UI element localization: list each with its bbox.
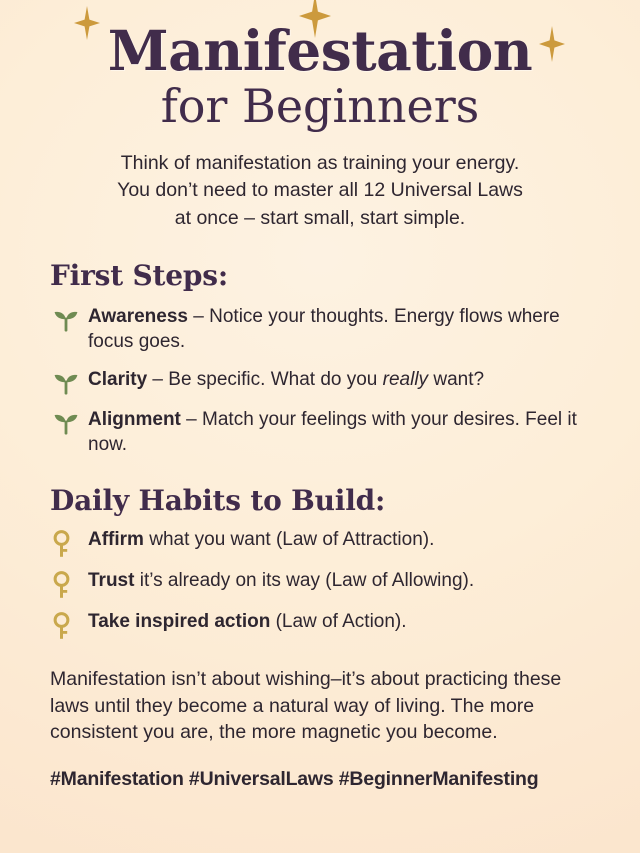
list-item-term: Affirm [88,529,144,550]
list-item: Take inspired action (Law of Action). [52,609,606,640]
list-item-term: Take inspired action [88,611,270,632]
key-icon [52,530,82,558]
daily-habits-list: Affirm what you want (Law of Attraction)… [0,527,640,640]
hashtag-line: #Manifestation #UniversalLaws #BeginnerM… [50,768,620,791]
list-item-emphasis: really [383,369,428,390]
list-item-term: Alignment [88,409,181,430]
seedling-icon [52,306,82,332]
intro-line-1: Think of manifestation as training your … [36,150,604,178]
list-item-dash: – [147,369,168,390]
list-item-text: Awareness – Notice your thoughts. Energy… [82,304,606,355]
section-heading-first-steps: First Steps: [50,259,640,292]
list-item-text: Clarity – Be specific. What do you reall… [82,367,606,392]
list-item-detail-pre: Be specific. What do you [168,369,382,390]
title-sub-text: for Beginners [0,81,640,132]
list-item-detail: what you want (Law of Attraction). [144,529,434,550]
list-item-detail: (Law of Action). [270,611,406,632]
key-icon [52,571,82,599]
list-item-term: Awareness [88,306,188,327]
intro-paragraph: Think of manifestation as training your … [36,150,604,233]
list-item-dash: – [181,409,202,430]
first-steps-list: Awareness – Notice your thoughts. Energy… [0,304,640,458]
page-title: Manifestation for Beginners [0,0,640,132]
list-item-dash: – [188,306,209,327]
closing-paragraph: Manifestation isn’t about wishing–it’s a… [50,666,596,747]
key-icon [52,612,82,640]
poster-canvas: Manifestation for Beginners Think of man… [0,0,640,853]
intro-line-2: You don’t need to master all 12 Universa… [36,177,604,205]
list-item: Alignment – Match your feelings with you… [52,407,606,458]
list-item: Awareness – Notice your thoughts. Energy… [52,304,606,355]
seedling-icon [52,369,82,395]
list-item-detail: it’s already on its way (Law of Allowing… [134,570,474,591]
list-item: Trust it’s already on its way (Law of Al… [52,568,606,599]
title-main-text: Manifestation [0,22,640,79]
seedling-icon [52,409,82,435]
list-item-text: Trust it’s already on its way (Law of Al… [82,568,606,593]
section-heading-daily-habits: Daily Habits to Build: [50,484,640,517]
list-item-term: Trust [88,570,134,591]
list-item: Affirm what you want (Law of Attraction)… [52,527,606,558]
list-item-text: Alignment – Match your feelings with you… [82,407,606,458]
list-item: Clarity – Be specific. What do you reall… [52,367,606,395]
intro-line-3: at once – start small, start simple. [36,205,604,233]
list-item-term: Clarity [88,369,147,390]
list-item-text: Take inspired action (Law of Action). [82,609,606,634]
list-item-text: Affirm what you want (Law of Attraction)… [82,527,606,552]
list-item-detail-post: want? [428,369,484,390]
